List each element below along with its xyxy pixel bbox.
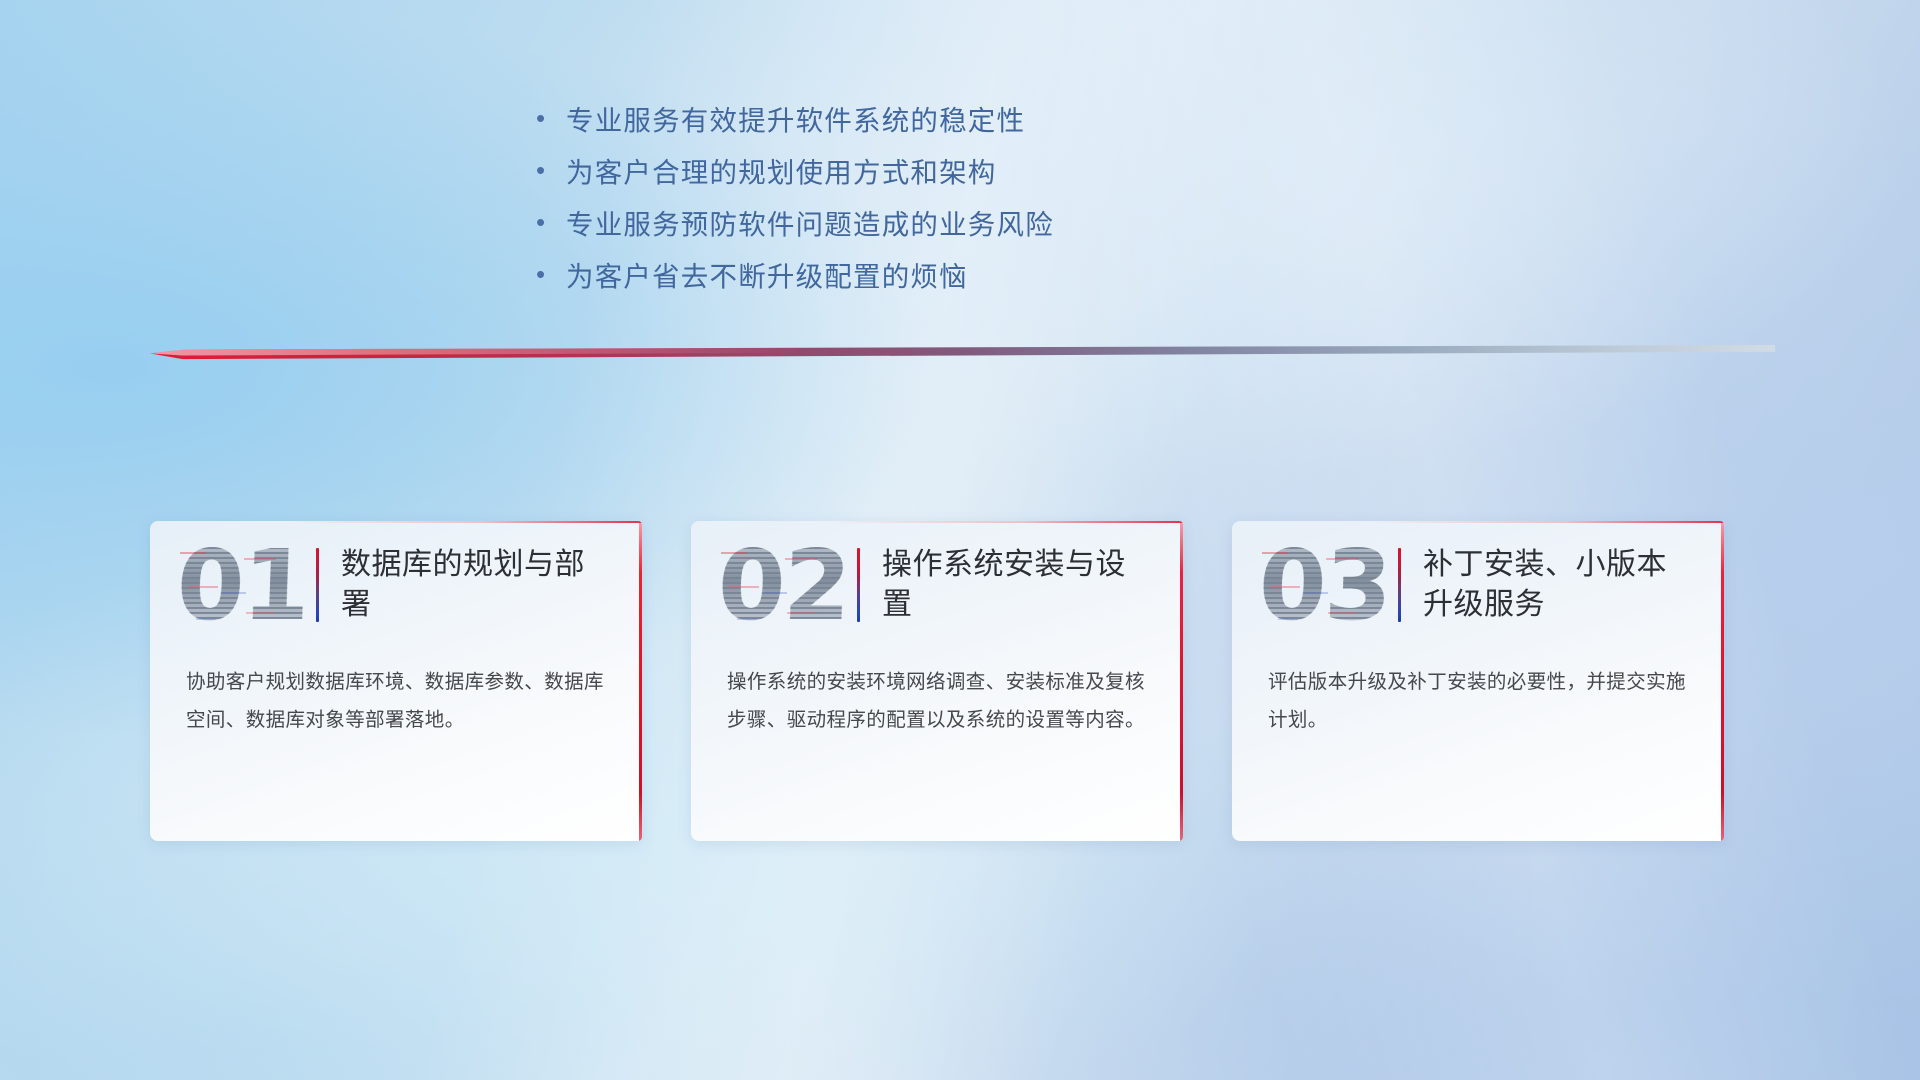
card-body-text: 协助客户规划数据库环境、数据库参数、数据库空间、数据库对象等部署落地。 (150, 649, 642, 739)
card-header: 03 补丁安装、小版本升级服务 (1232, 521, 1724, 649)
card-number: 01 (175, 537, 309, 634)
bullet-dot-icon: • (536, 157, 566, 183)
card-header: 01 数据库的规划与部署 (150, 521, 642, 649)
bullet-dot-icon: • (536, 261, 566, 287)
feature-card[interactable]: 03 补丁安装、小版本升级服务 评估版本升级及补丁安装的必要性，并提交实施计划。 (1232, 521, 1724, 841)
title-accent-bar (857, 548, 860, 622)
list-item: • 为客户省去不断升级配置的烦恼 (536, 248, 1356, 300)
title-accent-bar (1398, 548, 1401, 622)
card-number: 03 (1257, 537, 1391, 634)
bullet-text: 专业服务预防软件问题造成的业务风险 (566, 202, 1054, 242)
bullet-dot-icon: • (536, 209, 566, 235)
list-item: • 专业服务预防软件问题造成的业务风险 (536, 196, 1356, 248)
card-body-text: 操作系统的安装环境网络调查、安装标准及复核步骤、驱动程序的配置以及系统的设置等内… (691, 649, 1183, 739)
bullet-text: 专业服务有效提升软件系统的稳定性 (566, 98, 1025, 138)
card-header: 02 操作系统安装与设置 (691, 521, 1183, 649)
list-item: • 为客户合理的规划使用方式和架构 (536, 144, 1356, 196)
feature-card[interactable]: 02 操作系统安装与设置 操作系统的安装环境网络调查、安装标准及复核步骤、驱动程… (691, 521, 1183, 841)
card-body-text: 评估版本升级及补丁安装的必要性，并提交实施计划。 (1232, 649, 1724, 739)
card-number-graphic: 01 (176, 530, 308, 640)
card-number: 02 (716, 537, 850, 634)
section-divider (150, 345, 1775, 361)
list-item: • 专业服务有效提升软件系统的稳定性 (536, 92, 1356, 144)
card-number-graphic: 02 (717, 530, 849, 640)
card-title: 补丁安装、小版本升级服务 (1423, 545, 1671, 624)
feature-card[interactable]: 01 数据库的规划与部署 协助客户规划数据库环境、数据库参数、数据库空间、数据库… (150, 521, 642, 841)
card-title: 操作系统安装与设置 (882, 545, 1130, 624)
card-row: 01 数据库的规划与部署 协助客户规划数据库环境、数据库参数、数据库空间、数据库… (150, 521, 1724, 841)
title-accent-bar (316, 548, 319, 622)
bullet-list: • 专业服务有效提升软件系统的稳定性 • 为客户合理的规划使用方式和架构 • 专… (536, 92, 1356, 300)
bullet-text: 为客户省去不断升级配置的烦恼 (566, 254, 968, 294)
card-number-graphic: 03 (1258, 530, 1390, 640)
card-title: 数据库的规划与部署 (341, 545, 589, 624)
bullet-dot-icon: • (536, 105, 566, 131)
bullet-text: 为客户合理的规划使用方式和架构 (566, 150, 997, 190)
